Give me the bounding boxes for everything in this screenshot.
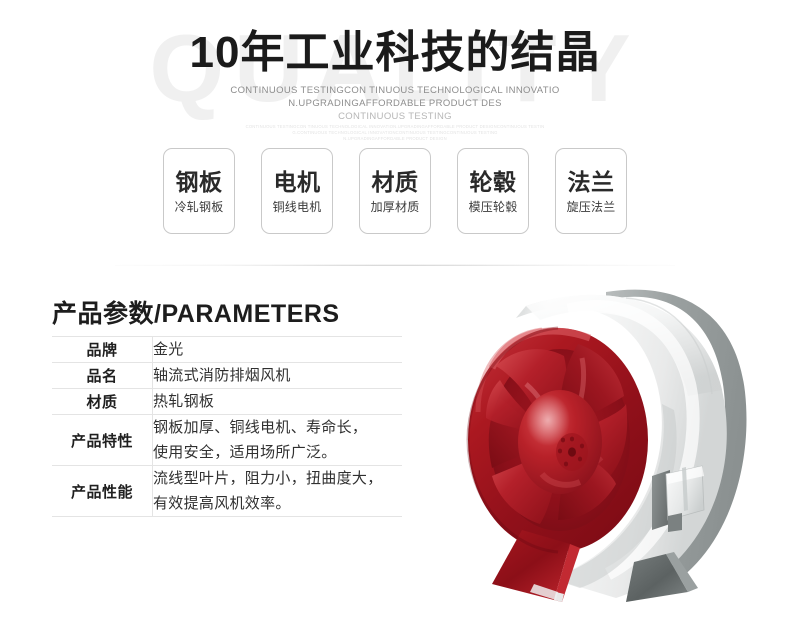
badge-title: 电机	[274, 167, 321, 197]
feature-badge-material[interactable]: 材质 加厚材质	[359, 148, 431, 234]
feature-badge-hub[interactable]: 轮毂 模压轮毂	[457, 148, 529, 234]
badge-title: 钢板	[176, 167, 223, 197]
feature-badge-motor[interactable]: 电机 铜线电机	[261, 148, 333, 234]
hero-microtext-line-3: N.UPGRADINGAFFORDABLE PRODUCT DESIGN	[0, 136, 790, 142]
hero-banner: QUALITY 10年工业科技的结晶 CONTINUOUS TESTINGCON…	[0, 0, 790, 266]
param-value: 金光	[153, 337, 403, 363]
table-row: 产品特性 钢板加厚、铜线电机、寿命长， 使用安全，适用场所广泛。	[52, 415, 402, 466]
page-title: 10年工业科技的结晶	[0, 24, 790, 82]
badge-title: 轮毂	[470, 167, 517, 197]
param-value-line: 流线型叶片，阻力小，扭曲度大，	[153, 466, 402, 491]
feature-badge-flange[interactable]: 法兰 旋压法兰	[555, 148, 627, 234]
badge-subtitle: 模压轮毂	[469, 197, 518, 217]
table-row: 品名 轴流式消防排烟风机	[52, 363, 402, 389]
param-key: 产品特性	[52, 415, 153, 466]
badge-title: 法兰	[568, 167, 615, 197]
param-value-line: 钢板加厚、铜线电机、寿命长，	[153, 415, 402, 440]
param-key: 品牌	[52, 337, 153, 363]
param-value: 轴流式消防排烟风机	[153, 363, 403, 389]
param-key: 产品性能	[52, 466, 153, 517]
hero-subtitle-line-1: CONTINUOUS TESTINGCON TINUOUS TECHNOLOGI…	[0, 84, 790, 97]
badge-subtitle: 加厚材质	[371, 197, 420, 217]
param-value: 热轧钢板	[153, 389, 403, 415]
badge-subtitle: 铜线电机	[273, 197, 322, 217]
parameters-heading: 产品参数/PARAMETERS	[52, 298, 340, 330]
hero-subtitle-line-3: CONTINUOUS TESTING	[0, 110, 790, 123]
param-value-line: 热轧钢板	[153, 389, 402, 414]
param-key: 材质	[52, 389, 153, 415]
param-value-line: 金光	[153, 337, 402, 362]
param-value: 流线型叶片，阻力小，扭曲度大， 有效提高风机效率。	[153, 466, 403, 517]
badge-subtitle: 旋压法兰	[567, 197, 616, 217]
table-row: 产品性能 流线型叶片，阻力小，扭曲度大， 有效提高风机效率。	[52, 466, 402, 517]
badge-title: 材质	[372, 167, 419, 197]
param-value: 钢板加厚、铜线电机、寿命长， 使用安全，适用场所广泛。	[153, 415, 403, 466]
product-image-axial-fan	[430, 262, 790, 621]
feature-badge-steel-plate[interactable]: 钢板 冷轧钢板	[163, 148, 235, 234]
parameters-table: 品牌 金光 品名 轴流式消防排烟风机 材质 热轧钢板 产品特性	[52, 336, 402, 517]
table-row: 品牌 金光	[52, 337, 402, 363]
hero-subtitle-line-2: N.UPGRADINGAFFORDABLE PRODUCT DES	[0, 97, 790, 110]
param-value-line: 使用安全，适用场所广泛。	[153, 440, 402, 465]
badge-subtitle: 冷轧钢板	[175, 197, 224, 217]
param-value-line: 有效提高风机效率。	[153, 491, 402, 516]
fan-hub	[518, 390, 602, 494]
param-key: 品名	[52, 363, 153, 389]
table-row: 材质 热轧钢板	[52, 389, 402, 415]
feature-badge-list: 钢板 冷轧钢板 电机 铜线电机 材质 加厚材质 轮毂 模压轮毂 法兰 旋压法兰	[0, 148, 790, 234]
param-value-line: 轴流式消防排烟风机	[153, 363, 402, 388]
